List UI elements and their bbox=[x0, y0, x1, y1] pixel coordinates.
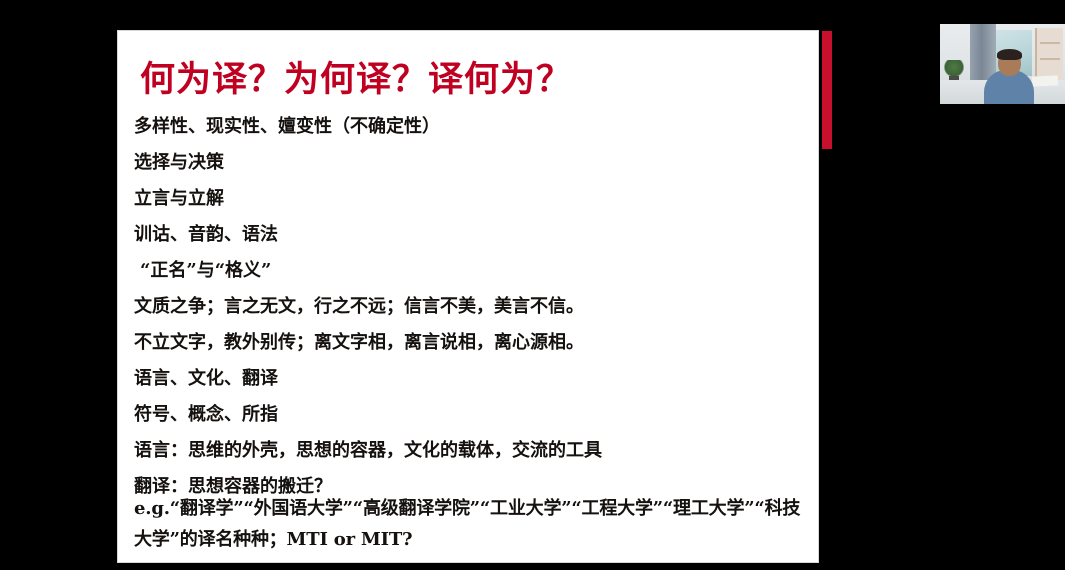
shelf-icon bbox=[1035, 28, 1063, 80]
shelf-line bbox=[1040, 42, 1060, 44]
slide-body-list: 多样性、现实性、嬗变性（不确定性） 选择与决策 立言与立解 训诂、音韵、语法 “… bbox=[126, 109, 816, 505]
slide-body-line: 选择与决策 bbox=[126, 145, 816, 181]
slide-body-line: 立言与立解 bbox=[126, 181, 816, 217]
screen-root: 何为译？为何译？译何为？ 多样性、现实性、嬗变性（不确定性） 选择与决策 立言与… bbox=[0, 0, 1065, 570]
presenter-video-panel[interactable] bbox=[940, 24, 1065, 104]
presenter-hair bbox=[997, 49, 1022, 60]
slide-body-line: 文质之争；言之无文，行之不远；信言不美，美言不信。 bbox=[126, 289, 816, 325]
slide-body-line: 不立文字，教外别传；离文字相，离言说相，离心源相。 bbox=[126, 325, 816, 361]
slide-body-line: “正名”与“格义” bbox=[126, 253, 816, 289]
slide-example-paragraph: e.g.“翻译学”“外国语大学”“高级翻译学院”“工业大学”“工程大学”“理工大… bbox=[134, 493, 806, 555]
slide-body-line: 语言：思维的外壳，思想的容器，文化的载体，交流的工具 bbox=[126, 433, 816, 469]
paper-icon bbox=[1032, 75, 1058, 86]
slide-title: 何为译？为何译？译何为？ bbox=[140, 51, 572, 102]
slide-body-line: 训诂、音韵、语法 bbox=[126, 217, 816, 253]
presentation-slide: 何为译？为何译？译何为？ 多样性、现实性、嬗变性（不确定性） 选择与决策 立言与… bbox=[118, 31, 818, 562]
slide-body-line: 多样性、现实性、嬗变性（不确定性） bbox=[126, 109, 816, 145]
slide-accent-bar bbox=[822, 31, 832, 149]
slide-body-line: 符号、概念、所指 bbox=[126, 397, 816, 433]
slide-body-line: 语言、文化、翻译 bbox=[126, 361, 816, 397]
shelf-line bbox=[1040, 58, 1060, 60]
